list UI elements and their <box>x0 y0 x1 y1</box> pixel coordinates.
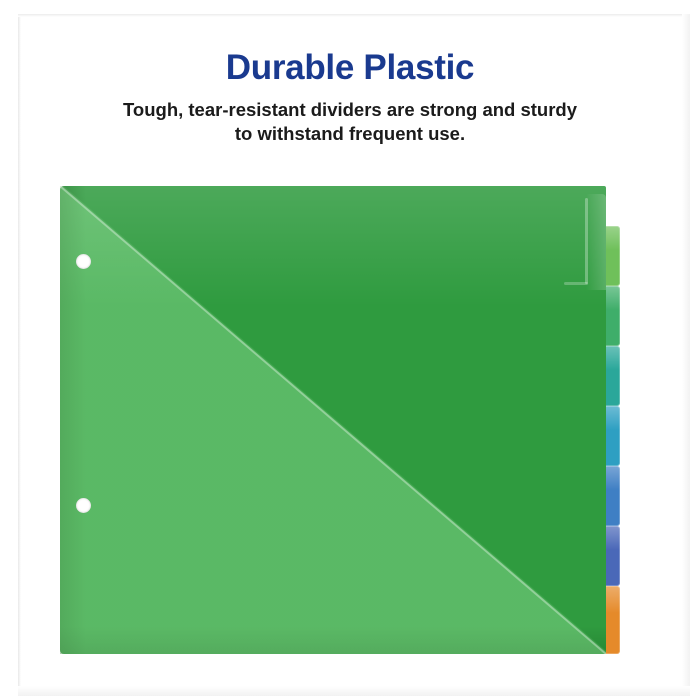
card-edge-top <box>18 14 682 17</box>
punch-hole <box>76 498 91 513</box>
fold-diagonal-line <box>60 186 606 654</box>
subheadline: Tough, tear-resistant dividers are stron… <box>0 98 700 146</box>
sheet-bottom-shadow <box>60 626 606 654</box>
sheet-gloss <box>60 186 606 306</box>
product-photo <box>60 186 620 654</box>
subheadline-line-2: to withstand frequent use. <box>0 122 700 146</box>
pocket-seam-horizontal <box>564 282 588 285</box>
card-edge-bottom <box>18 686 690 696</box>
product-image-canvas: Durable Plastic Tough, tear-resistant di… <box>0 0 700 700</box>
subheadline-line-1: Tough, tear-resistant dividers are stron… <box>123 99 577 120</box>
pocket-corner-highlight <box>586 194 606 290</box>
punch-hole <box>76 254 91 269</box>
folded-flap-overlay <box>60 186 606 654</box>
divider-sheet <box>60 186 606 654</box>
headline: Durable Plastic <box>0 48 700 88</box>
pocket-seam-vertical <box>585 198 588 284</box>
